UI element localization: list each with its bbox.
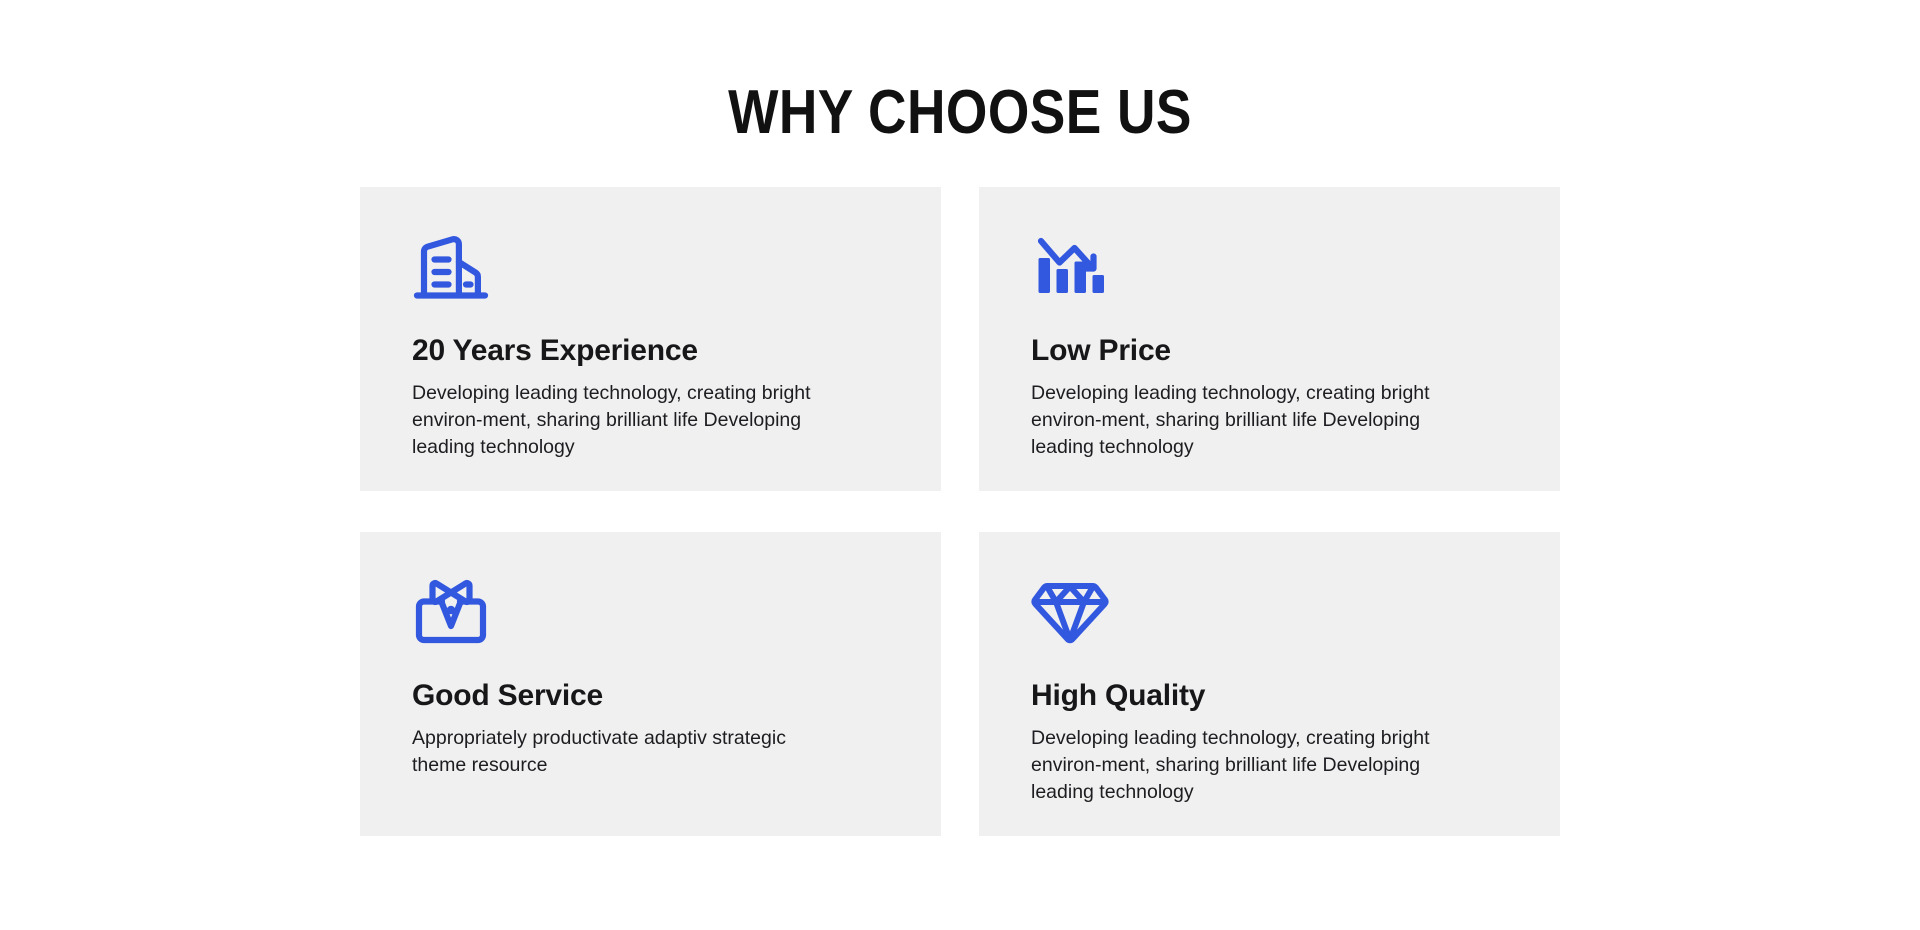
office-building-icon <box>412 231 889 303</box>
card-title: Low Price <box>1031 333 1508 369</box>
feature-card-20-years-experience[interactable]: 20 Years Experience Developing leading t… <box>360 187 941 491</box>
why-choose-us-section: WHY CHOOSE US 20 Years Experience <box>0 0 1920 930</box>
card-title: Good Service <box>412 678 889 714</box>
card-description: Developing leading technology, creating … <box>412 380 837 461</box>
feature-card-high-quality[interactable]: High Quality Developing leading technolo… <box>979 532 1560 836</box>
declining-bar-chart-icon <box>1031 231 1508 303</box>
card-description: Developing leading technology, creating … <box>1031 725 1456 806</box>
card-description: Developing leading technology, creating … <box>1031 380 1456 461</box>
feature-card-low-price[interactable]: Low Price Developing leading technology,… <box>979 187 1560 491</box>
page-title: WHY CHOOSE US <box>134 78 1785 148</box>
diamond-icon <box>1031 576 1508 648</box>
card-title: 20 Years Experience <box>412 333 889 369</box>
tuxedo-bowtie-icon <box>412 576 889 648</box>
card-title: High Quality <box>1031 678 1508 714</box>
card-description: Appropriately productivate adaptiv strat… <box>412 725 837 779</box>
feature-card-grid: 20 Years Experience Developing leading t… <box>360 187 1560 836</box>
feature-card-good-service[interactable]: Good Service Appropriately productivate … <box>360 532 941 836</box>
